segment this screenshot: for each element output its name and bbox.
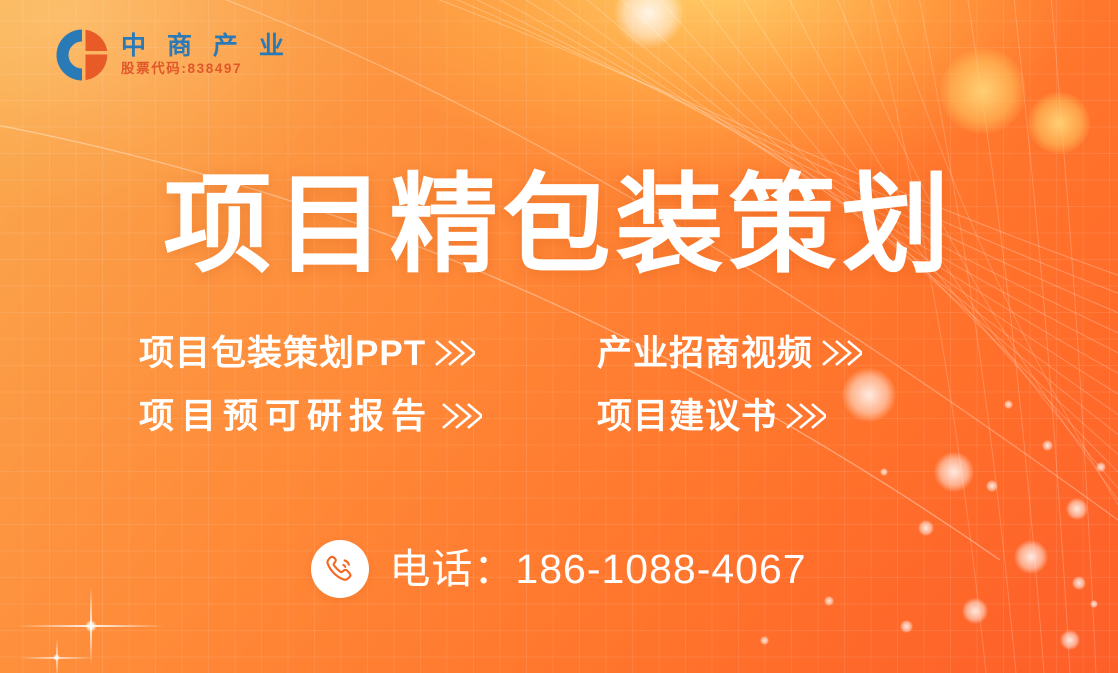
bokeh-circle <box>1060 630 1080 650</box>
bokeh-circle <box>614 0 684 48</box>
bokeh-circle <box>880 468 888 476</box>
phone-number-text: 电话：186-1088-4067 <box>389 549 806 590</box>
company-name: 中 商 产 业 <box>121 33 291 61</box>
service-links-col-left: 项目包装策划PPT <box>139 336 597 371</box>
ci-monogram-logo-icon <box>54 27 110 83</box>
bokeh-circle <box>1066 498 1088 520</box>
link-investment-video[interactable]: 产业招商视频 <box>597 336 862 371</box>
bokeh-circle <box>1096 462 1106 472</box>
lens-flare-sparkle-small <box>56 657 57 658</box>
bokeh-circle <box>986 480 998 492</box>
bokeh-circle <box>1090 600 1098 608</box>
headline-title: 项目精包装策划 <box>0 165 1118 286</box>
bokeh-circle <box>760 636 769 645</box>
double-chevron-right-icon <box>820 337 862 369</box>
promo-banner: 中 商 产 业 股票代码:838497 项目精包装策划 项目包装策划PPT <box>0 0 1118 673</box>
lens-flare-sparkle <box>90 625 91 626</box>
bokeh-circle <box>1028 92 1090 154</box>
link-project-proposal-label: 项目建议书 <box>597 399 777 434</box>
bokeh-circle <box>962 598 988 624</box>
service-links-col-right: 项目建议书 <box>597 399 979 434</box>
link-feasibility-report[interactable]: 项目预可研报告 <box>139 399 482 434</box>
service-links-row: 项目预可研报告 项目建议书 <box>139 399 979 434</box>
logo-wordmark: 中 商 产 业 股票代码:838497 <box>121 33 291 77</box>
service-links-col-right: 产业招商视频 <box>597 336 979 371</box>
bokeh-circle <box>940 48 1026 134</box>
link-ppt[interactable]: 项目包装策划PPT <box>139 336 475 371</box>
bokeh-circle <box>918 520 934 536</box>
bokeh-circle <box>900 620 913 633</box>
service-links-col-left: 项目预可研报告 <box>139 399 597 434</box>
contact-phone-bar[interactable]: 电话：186-1088-4067 <box>0 540 1118 598</box>
bokeh-circle <box>934 452 974 492</box>
phone-call-icon <box>311 540 369 598</box>
link-investment-video-label: 产业招商视频 <box>597 336 813 371</box>
double-chevron-right-icon <box>440 400 482 432</box>
double-chevron-right-icon <box>784 400 826 432</box>
service-links-row: 项目包装策划PPT 产业招商视频 <box>139 336 979 371</box>
service-links: 项目包装策划PPT 产业招商视频 <box>0 336 1118 434</box>
link-ppt-label: 项目包装策划PPT <box>139 336 426 371</box>
link-feasibility-report-label: 项目预可研报告 <box>139 399 433 434</box>
double-chevron-right-icon <box>433 337 475 369</box>
stock-code: 股票代码:838497 <box>121 62 291 77</box>
brand-logo[interactable]: 中 商 产 业 股票代码:838497 <box>54 27 291 83</box>
link-project-proposal[interactable]: 项目建议书 <box>597 399 826 434</box>
bokeh-circle <box>1042 440 1053 451</box>
